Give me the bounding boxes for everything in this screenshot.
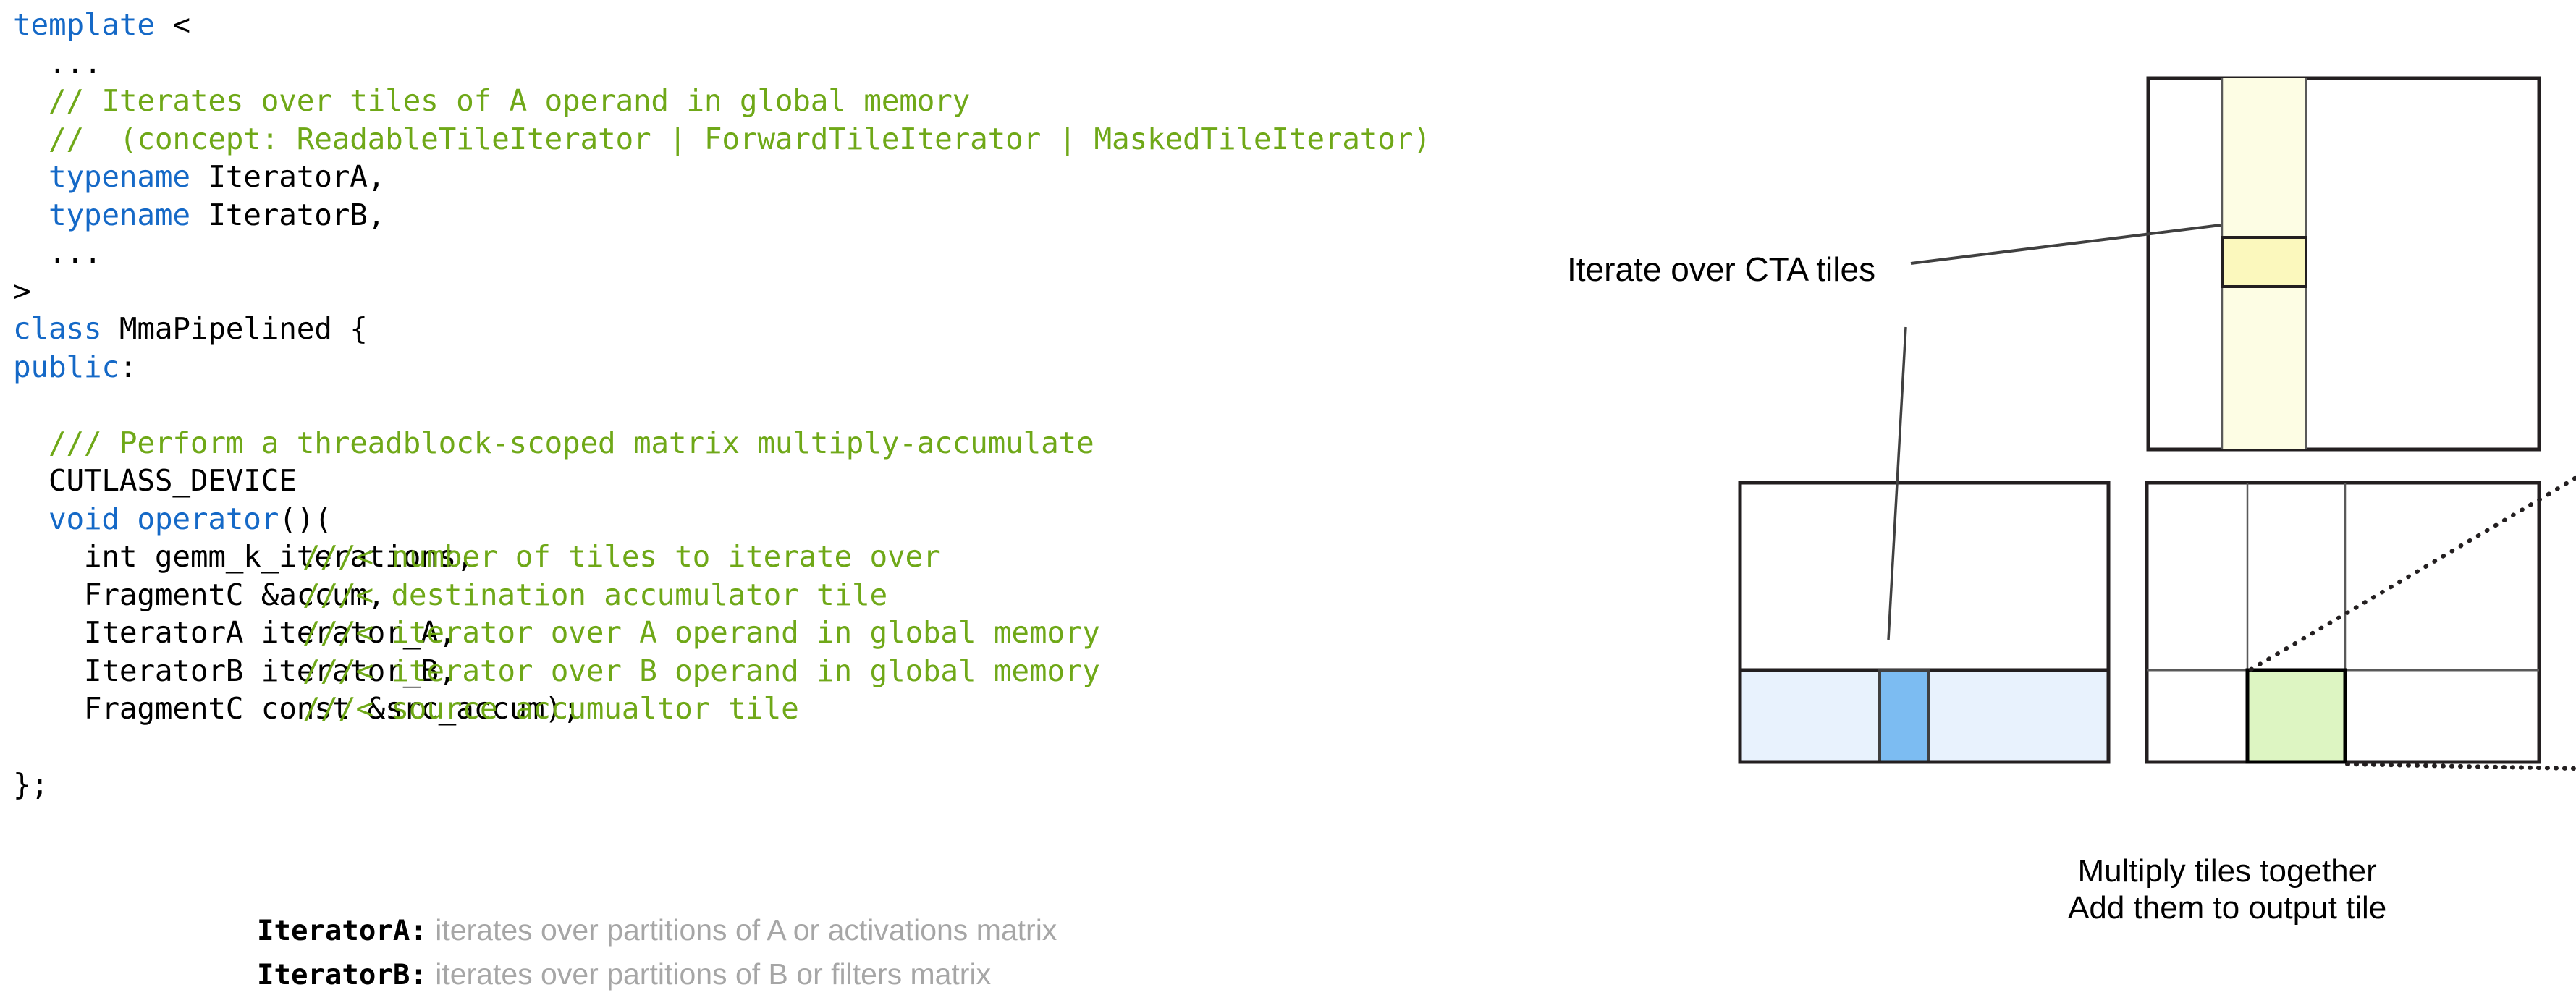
- annotation-multiply-line-1: Multiply tiles together: [2068, 852, 2386, 889]
- operand-b-column-strip: [2222, 78, 2306, 449]
- legend-value: iterates over partitions of A or activat…: [427, 913, 1057, 947]
- code-comment: ///< source accumualtor tile: [303, 691, 799, 726]
- code-line: // (concept: ReadableTileIterator | Forw…: [13, 120, 1431, 158]
- code-text: ()(: [279, 501, 331, 536]
- code-text: :: [119, 350, 137, 384]
- code-comment: /// Perform a threadblock-scoped matrix …: [13, 426, 1094, 460]
- code-text: >: [13, 274, 30, 308]
- code-keyword: void operator: [48, 501, 279, 536]
- code-text: FragmentC const &src_accum);: [13, 690, 303, 728]
- code-text: FragmentC &accum,: [13, 576, 303, 614]
- code-keyword: public: [13, 350, 119, 384]
- code-line: void operator()(: [13, 500, 1431, 538]
- code-text: };: [13, 767, 48, 802]
- code-line: >: [13, 272, 1431, 310]
- code-text: MmaPipelined {: [101, 311, 367, 346]
- operand-a-matrix: [1740, 483, 2108, 762]
- source-code-block: template < ... // Iterates over tiles of…: [13, 6, 1431, 804]
- legend-key: IteratorA:: [257, 915, 427, 947]
- code-line: [13, 728, 1431, 766]
- operand-a-highlight-tile: [1880, 670, 1929, 762]
- annotation-iterate-over-cta-tiles: Iterate over CTA tiles: [1567, 250, 1875, 289]
- code-line: FragmentC &accum,///< destination accumu…: [13, 576, 1431, 614]
- code-line: IteratorA iterator_A,///< iterator over …: [13, 614, 1431, 652]
- code-text: IteratorA iterator_A,: [13, 614, 303, 652]
- code-line: int gemm_k_iterations,///< number of til…: [13, 538, 1431, 576]
- legend-value: iterates over partitions of B or filters…: [427, 957, 991, 991]
- code-line: IteratorB iterator_B,///< iterator over …: [13, 652, 1431, 690]
- annotation-multiply-line-2: Add them to output tile: [2068, 889, 2386, 926]
- code-text: [13, 501, 48, 536]
- code-line: public:: [13, 348, 1431, 386]
- code-line: template <: [13, 6, 1431, 44]
- output-right-dotted: [2548, 478, 2576, 494]
- code-text: IteratorB,: [190, 198, 385, 232]
- code-keyword: typename: [48, 198, 190, 232]
- operand-a-leader-line: [1888, 327, 1906, 640]
- code-text: IteratorA,: [190, 159, 385, 194]
- code-text: IteratorB iterator_B,: [13, 652, 303, 690]
- code-comment: // Iterates over tiles of A operand in g…: [13, 83, 970, 118]
- operand-a-row-strip: [1740, 670, 2108, 762]
- code-text: int gemm_k_iterations,: [13, 538, 303, 576]
- code-text: [13, 198, 48, 232]
- operand-b-highlight-tile: [2222, 237, 2306, 287]
- code-text: <: [155, 7, 190, 42]
- code-line: typename IteratorB,: [13, 196, 1431, 234]
- code-keyword: template: [13, 7, 155, 42]
- code-line: CUTLASS_DEVICE: [13, 462, 1431, 500]
- output-matrix: [2147, 478, 2576, 769]
- code-line: [13, 386, 1431, 424]
- annotation-multiply-add: Multiply tiles together Add them to outp…: [2068, 852, 2386, 926]
- code-keyword: class: [13, 311, 101, 346]
- legend-row: IteratorB: iterates over partitions of B…: [257, 952, 1057, 996]
- legend-row: IteratorA: iterates over partitions of A…: [257, 908, 1057, 952]
- iterator-legend: IteratorA: iterates over partitions of A…: [257, 908, 1057, 996]
- output-highlight-tile: [2247, 670, 2345, 762]
- code-line: typename IteratorA,: [13, 158, 1431, 196]
- code-line: };: [13, 766, 1431, 804]
- code-line: // Iterates over tiles of A operand in g…: [13, 82, 1431, 120]
- legend-key: IteratorB:: [257, 959, 427, 991]
- code-line: class MmaPipelined {: [13, 310, 1431, 348]
- code-text: ...: [13, 46, 101, 80]
- code-line: FragmentC const &src_accum);///< source …: [13, 690, 1431, 728]
- code-comment: // (concept: ReadableTileIterator | Forw…: [13, 122, 1431, 156]
- code-text: CUTLASS_DEVICE: [13, 463, 297, 498]
- code-line: ...: [13, 44, 1431, 82]
- operand-b-matrix: [2148, 78, 2539, 449]
- code-comment: ///< number of tiles to iterate over: [303, 539, 940, 574]
- cta-leader-line: [1911, 225, 2221, 263]
- code-comment: ///< iterator over B operand in global m…: [303, 653, 1100, 688]
- code-text: [13, 159, 48, 194]
- output-diagonal-dotted: [2251, 494, 2548, 669]
- code-line: /// Perform a threadblock-scoped matrix …: [13, 424, 1431, 462]
- output-bottom-dotted: [2347, 764, 2576, 769]
- code-line: ...: [13, 234, 1431, 272]
- code-comment: ///< iterator over A operand in global m…: [303, 615, 1100, 650]
- code-comment: ///< destination accumulator tile: [303, 577, 887, 612]
- code-text: ...: [13, 235, 101, 270]
- code-keyword: typename: [48, 159, 190, 194]
